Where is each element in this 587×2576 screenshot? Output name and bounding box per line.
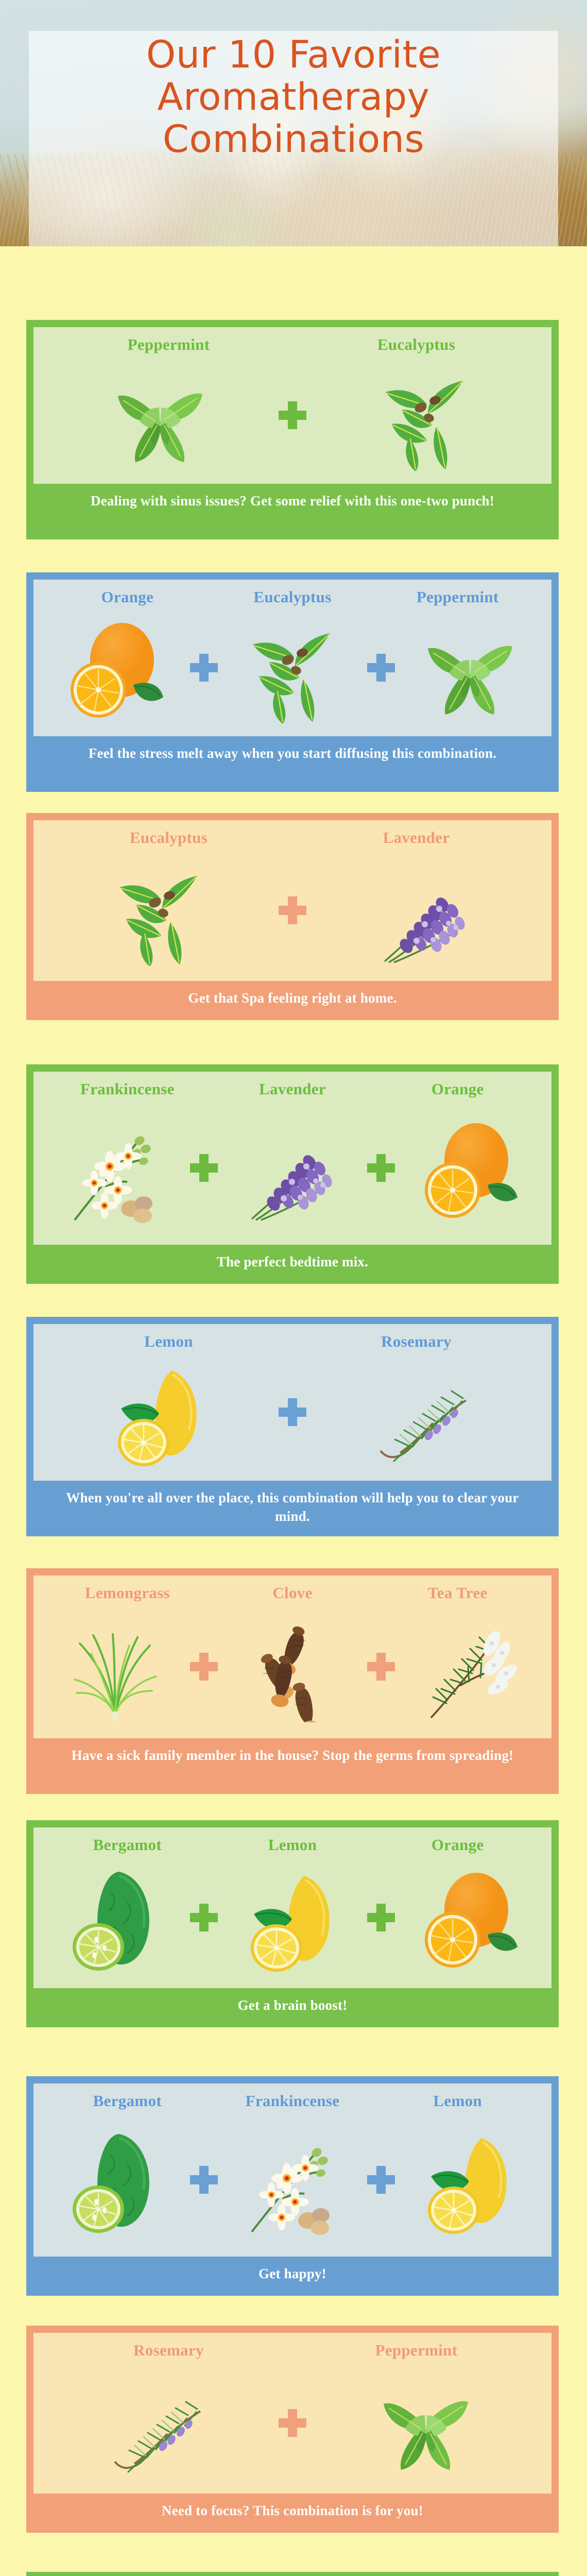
combination-card: LemongrassCloveTea Tree <box>26 1568 559 1794</box>
eucalyptus-sprig-icon <box>309 360 541 471</box>
plus-icon <box>190 1154 218 1182</box>
oil-illustration-row <box>39 1351 546 1476</box>
oil-label-row: LemonRosemary <box>39 1330 546 1351</box>
combination-caption: Get that Spa feeling right at home. <box>33 981 551 1017</box>
oil-label-row: PeppermintEucalyptus <box>39 333 546 354</box>
oil-name-label: Tea Tree <box>375 1584 540 1602</box>
oil-name-label: Peppermint <box>292 2341 540 2360</box>
combination-panel: OrangeEucalyptusPeppermint <box>33 580 551 736</box>
oil-name-label: Frankincense <box>210 2092 375 2110</box>
plus-icon <box>367 654 395 682</box>
oil-name-label: Rosemary <box>45 2341 292 2360</box>
combination-card: LemonRosemary <box>26 1317 559 1536</box>
oil-name-label: Frankincense <box>45 1080 210 1098</box>
oil-name-label: Eucalyptus <box>45 828 292 847</box>
plus-icon <box>279 401 306 429</box>
combination-caption: Get happy! <box>33 2257 551 2293</box>
combination-caption: Get a brain boost! <box>33 1988 551 2024</box>
combination-caption: Need to focus? This combination is for y… <box>33 2494 551 2530</box>
oil-label-row: LemongrassCloveTea Tree <box>39 1582 546 1602</box>
oil-label-row: BergamotFrankincenseLemon <box>39 2090 546 2110</box>
lavender-sprig-icon <box>309 855 541 966</box>
oil-name-label: Peppermint <box>375 588 540 606</box>
combination-panel: PeppermintEucalyptus <box>33 327 551 484</box>
oil-name-label: Lemongrass <box>45 1584 210 1602</box>
lemon-fruit-icon <box>221 1862 364 1973</box>
oil-label-row: RosemaryPeppermint <box>39 2339 546 2360</box>
oil-name-label: Lemon <box>45 1332 292 1351</box>
rosemary-sprig-icon <box>309 1357 541 1468</box>
combination-panel: LemongrassCloveTea Tree <box>33 1575 551 1738</box>
plus-icon <box>190 654 218 682</box>
peppermint-leaves-icon <box>398 613 541 723</box>
lemongrass-icon <box>44 1612 187 1722</box>
page-title: Our 10 Favorite Aromatherapy Combination… <box>29 34 558 160</box>
frankincense-flower-icon <box>44 1113 187 1224</box>
combination-card: BergamotFrankincenseLemon <box>26 2076 559 2296</box>
orange-fruit-icon <box>44 613 187 723</box>
lemon-fruit-icon <box>398 2125 541 2235</box>
combination-panel: EucalyptusLavender <box>33 820 551 981</box>
orange-fruit-icon <box>398 1113 541 1224</box>
combination-card: EucalyptusLavender <box>26 813 559 1020</box>
oil-illustration-row <box>39 1854 546 1983</box>
combination-panel: LemonRosemary <box>33 1324 551 1481</box>
plus-icon <box>190 1904 218 1931</box>
plus-icon <box>190 1653 218 1681</box>
combination-caption: Feel the stress melt away when you start… <box>33 736 551 772</box>
oil-illustration-row <box>39 1602 546 1733</box>
bergamot-fruit-icon <box>44 1862 187 1973</box>
oil-name-label: Lavender <box>292 828 540 847</box>
combination-card: PeppermintEucalyptus <box>26 320 559 539</box>
plus-icon <box>367 1154 395 1182</box>
plus-icon <box>367 1904 395 1931</box>
oil-name-label: Rosemary <box>292 1332 540 1351</box>
plus-icon <box>190 2166 218 2194</box>
oil-name-label: Bergamot <box>45 2092 210 2110</box>
peppermint-leaves-icon <box>309 2368 541 2479</box>
tea-tree-sprig-icon <box>398 1612 541 1722</box>
oil-illustration-row <box>39 606 546 731</box>
combination-caption: When you're all over the place, this com… <box>33 1481 551 1535</box>
oil-label-row: EucalyptusLavender <box>39 826 546 847</box>
oil-label-row: FrankincenseLavenderOrange <box>39 1078 546 1098</box>
orange-fruit-icon <box>398 1862 541 1973</box>
oil-illustration-row <box>39 354 546 479</box>
oil-name-label: Bergamot <box>45 1836 210 1854</box>
oil-name-label: Eucalyptus <box>210 588 375 606</box>
combination-card: LavenderBergamot <box>26 2572 559 2576</box>
oil-name-label: Peppermint <box>45 335 292 354</box>
oil-name-label: Lemon <box>210 1836 375 1854</box>
oil-name-label: Eucalyptus <box>292 335 540 354</box>
oil-illustration-row <box>39 1098 546 1240</box>
lavender-sprig-icon <box>221 1113 364 1224</box>
combination-card: FrankincenseLavenderOrange <box>26 1064 559 1284</box>
combination-panel: RosemaryPeppermint <box>33 2333 551 2494</box>
eucalyptus-sprig-icon <box>44 855 275 966</box>
lemon-fruit-icon <box>44 1357 275 1468</box>
title-line-2: Aromatherapy <box>29 76 558 118</box>
bergamot-fruit-icon <box>44 2125 187 2235</box>
combination-caption: The perfect bedtime mix. <box>33 1245 551 1281</box>
oil-name-label: Lemon <box>375 2092 540 2110</box>
combination-caption: Have a sick family member in the house? … <box>33 1738 551 1774</box>
combination-card: BergamotLemonOrange <box>26 1820 559 2027</box>
oil-label-row: OrangeEucalyptusPeppermint <box>39 586 546 606</box>
rosemary-sprig-icon <box>44 2368 275 2479</box>
oil-illustration-row <box>39 847 546 976</box>
header-hero: Our 10 Favorite Aromatherapy Combination… <box>0 0 587 246</box>
combination-panel: BergamotLemonOrange <box>33 1827 551 1988</box>
combination-panel: FrankincenseLavenderOrange <box>33 1072 551 1245</box>
frankincense-flower-icon <box>221 2125 364 2235</box>
plus-icon <box>279 2409 306 2437</box>
combination-card: OrangeEucalyptusPeppermint <box>26 572 559 792</box>
eucalyptus-sprig-icon <box>221 613 364 723</box>
oil-name-label: Clove <box>210 1584 375 1602</box>
oil-illustration-row <box>39 2110 546 2251</box>
oil-name-label: Lavender <box>210 1080 375 1098</box>
oil-name-label: Orange <box>45 588 210 606</box>
oil-illustration-row <box>39 2360 546 2488</box>
clove-buds-icon <box>221 1612 364 1722</box>
peppermint-leaves-icon <box>44 360 275 471</box>
combination-card: RosemaryPeppermint <box>26 2326 559 2533</box>
plus-icon <box>279 1398 306 1426</box>
oil-name-label: Orange <box>375 1836 540 1854</box>
title-line-1: Our 10 Favorite <box>29 34 558 76</box>
combination-panel: BergamotFrankincenseLemon <box>33 2083 551 2257</box>
plus-icon <box>279 896 306 924</box>
combination-card-list: PeppermintEucalyptus <box>0 246 587 2576</box>
oil-label-row: BergamotLemonOrange <box>39 1834 546 1854</box>
plus-icon <box>367 1653 395 1681</box>
title-line-3: Combinations <box>29 118 558 161</box>
combination-caption: Dealing with sinus issues? Get some reli… <box>33 484 551 520</box>
oil-name-label: Orange <box>375 1080 540 1098</box>
plus-icon <box>367 2166 395 2194</box>
